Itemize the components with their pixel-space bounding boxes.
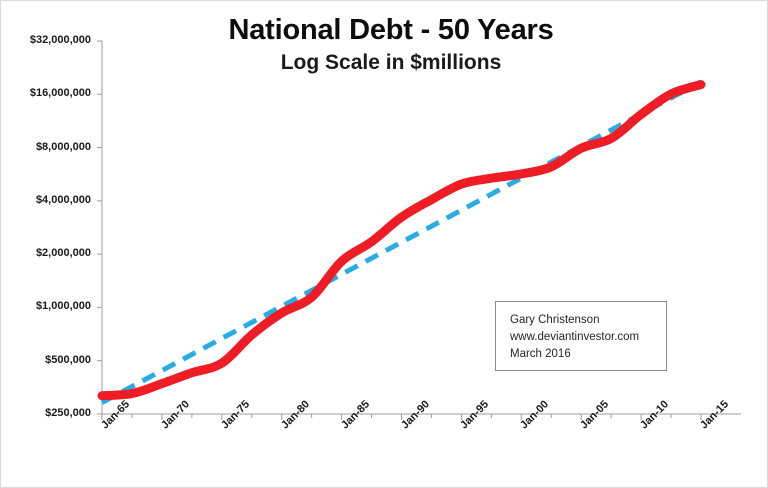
national-debt-chart: National Debt - 50 Years Log Scale in $m… <box>0 0 768 488</box>
y-tick-label: $8,000,000 <box>5 141 91 153</box>
y-tick-label: $32,000,000 <box>5 34 91 46</box>
y-tick-label: $250,000 <box>5 407 91 419</box>
y-tick-label: $4,000,000 <box>5 194 91 206</box>
y-tick-label: $2,000,000 <box>5 247 91 259</box>
attribution-date: March 2016 <box>510 346 666 363</box>
y-tick-label: $1,000,000 <box>5 300 91 312</box>
attribution-website: www.deviantinvestor.com <box>510 329 666 346</box>
y-axis-ticks <box>97 41 102 414</box>
attribution-box: Gary Christenson www.deviantinvestor.com… <box>495 301 667 371</box>
y-tick-label: $500,000 <box>5 354 91 366</box>
attribution-author: Gary Christenson <box>510 312 666 329</box>
y-tick-label: $16,000,000 <box>5 87 91 99</box>
